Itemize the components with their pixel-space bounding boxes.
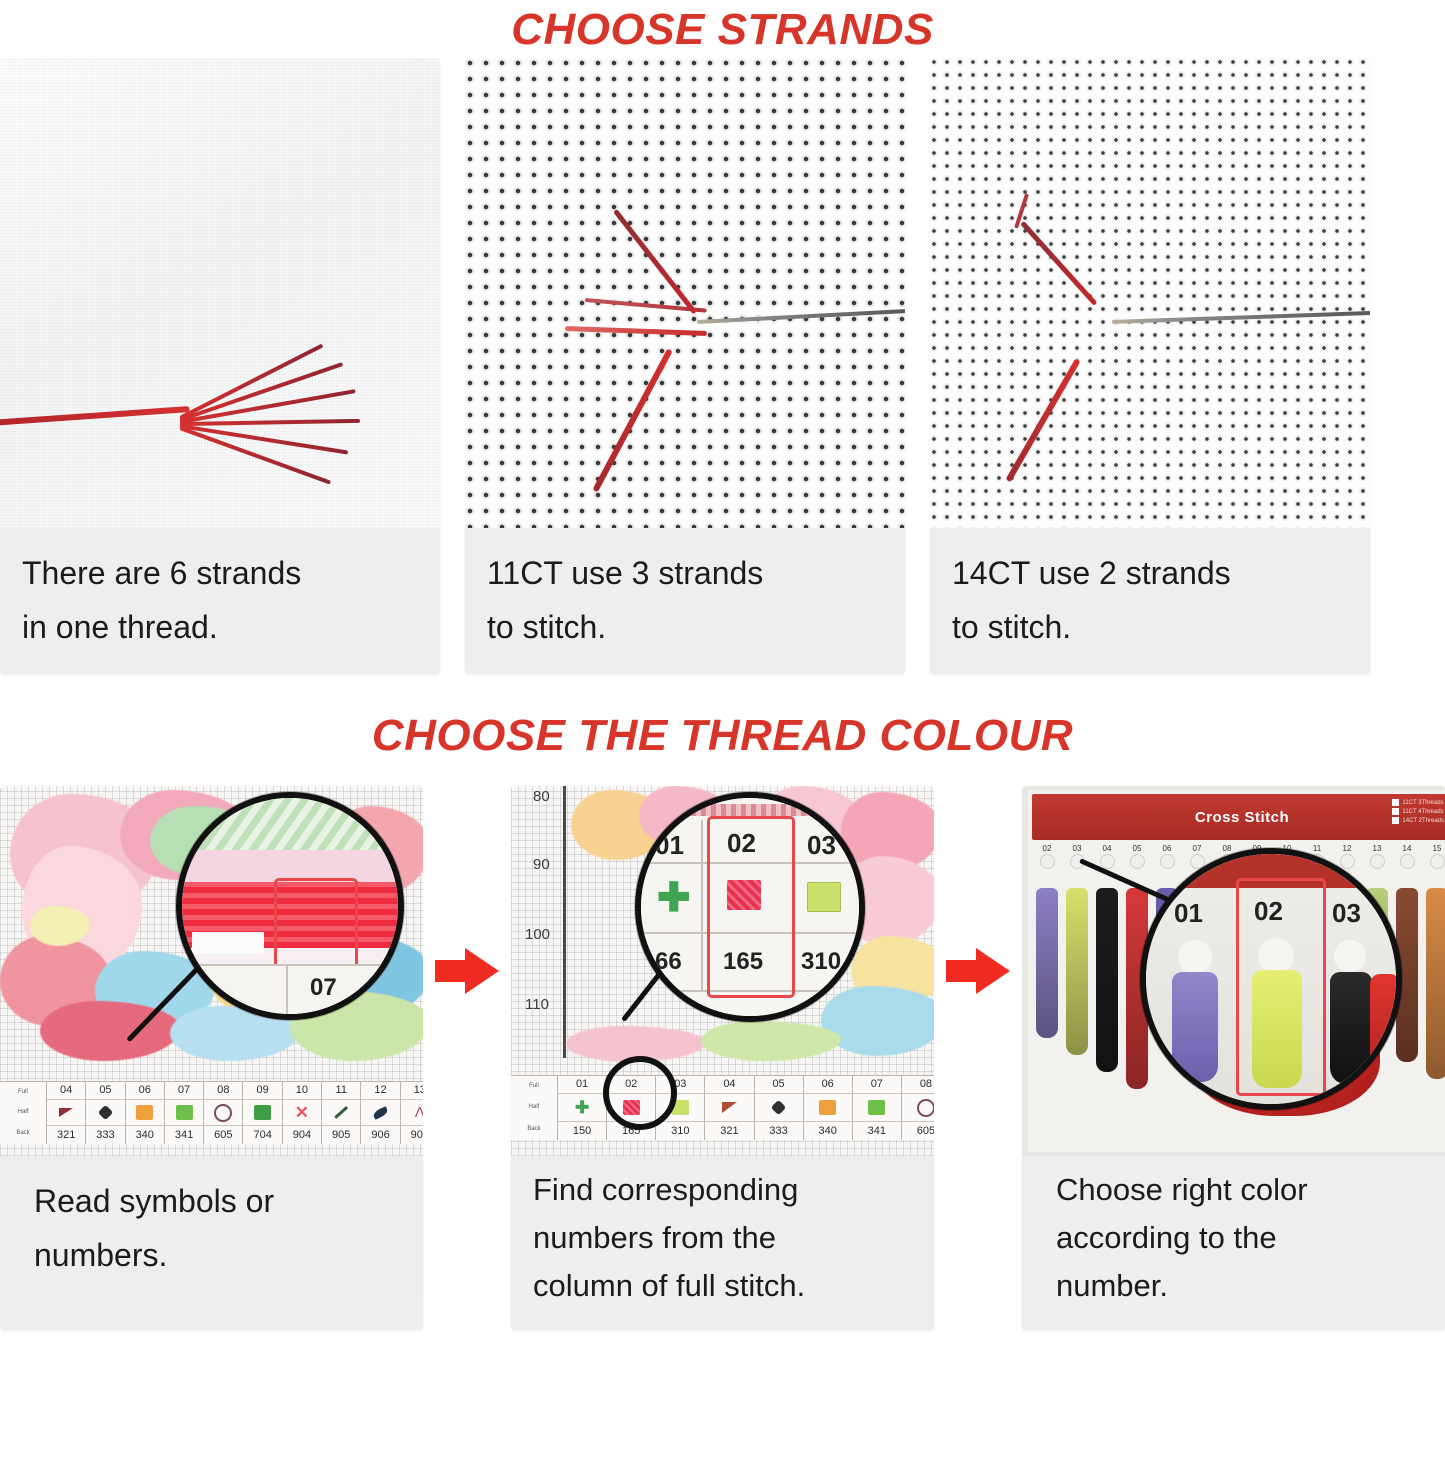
checkbox-icon[interactable]: [1392, 799, 1399, 806]
floss-bundle: [1092, 888, 1122, 1152]
legend-header: 06: [126, 1082, 164, 1100]
legend-column: 10 ✕ 904: [283, 1082, 322, 1144]
legend-columns: 04 321 05 333 06 340 07: [47, 1082, 423, 1144]
legend-number: 333: [755, 1122, 803, 1140]
photo-six-strands: [0, 58, 440, 528]
checkbox-label: 14CT 2Threads: [1402, 818, 1444, 824]
legend-number: 906: [361, 1126, 399, 1144]
legend-symbol-leaf-icon: [361, 1100, 399, 1126]
legend-header: 04: [705, 1076, 753, 1094]
card-read-symbols: 07 Full Half Back 04 321 05: [0, 786, 423, 1330]
photo-pattern-chart-numbers: 80 90 100 110: [511, 786, 934, 1156]
peg-hole-icon: [1430, 854, 1445, 869]
skein-sample: [1330, 972, 1372, 1084]
legend-number: 150: [558, 1122, 606, 1140]
caption-line: to stitch.: [952, 600, 1348, 654]
photo-pattern-chart-symbols: 07 Full Half Back 04 321 05: [0, 786, 423, 1156]
caption-line: There are 6 strands: [22, 546, 418, 600]
legend-number: 905: [322, 1126, 360, 1144]
thread-peg-number: 15: [1433, 844, 1442, 854]
thread-peg-number: 04: [1103, 844, 1112, 854]
caption-line: column of full stitch.: [533, 1262, 912, 1310]
skein-sample: [1172, 972, 1218, 1082]
arrow-step-2-to-3: [934, 786, 1022, 1156]
caption-line: Choose right color: [1056, 1166, 1423, 1214]
legend-header: 06: [804, 1076, 852, 1094]
caption-line: in one thread.: [22, 600, 418, 654]
caption-line: Read symbols or: [34, 1174, 401, 1228]
legend-column: 04 321: [705, 1076, 754, 1140]
card-choose-color: Cross Stitch 11CT 3Threads 11CT 4Threads…: [1022, 786, 1445, 1330]
number-legend-table: Full Half Back 01 ✚ 150 02 165: [511, 1075, 934, 1140]
legend-column: 06 340: [126, 1082, 165, 1144]
legend-header: 01: [558, 1076, 606, 1094]
legend-side-label: Half: [18, 1109, 29, 1116]
legend-column: 12 906: [361, 1082, 400, 1144]
legend-header: 11: [322, 1082, 360, 1100]
thread-peg-number: 12: [1343, 844, 1352, 854]
legend-symbol-green-cross-icon: ✚: [558, 1094, 606, 1122]
checkbox-label: 11CT 4Threads: [1402, 809, 1443, 815]
caption-11ct: 11CT use 3 strands to stitch.: [465, 528, 905, 674]
axis-tick-label: 110: [525, 996, 549, 1013]
legend-header: 07: [165, 1082, 203, 1100]
legend-side-label: Half: [529, 1104, 540, 1111]
legend-number: 341: [165, 1126, 203, 1144]
symbol-yellow-box-icon: [807, 882, 841, 912]
skein-sample: [1370, 974, 1400, 1074]
peg-hole-icon: [1334, 940, 1366, 972]
caption-line: 11CT use 3 strands: [487, 546, 883, 600]
axis-tick-label: 90: [533, 856, 550, 873]
aida-cloth-14ct-texture: [930, 58, 1370, 528]
axis-tick-label: 80: [533, 788, 550, 805]
magnifier-thread-number: 66: [655, 948, 682, 976]
legend-header: 12: [361, 1082, 399, 1100]
photo-11ct-aida: [465, 58, 905, 528]
magnifier-symbols: 07: [176, 792, 404, 1020]
legend-header: 04: [47, 1082, 85, 1100]
axis-tick-label: 100: [525, 926, 550, 943]
legend-header: 05: [755, 1076, 803, 1094]
checkbox-icon[interactable]: [1392, 817, 1399, 824]
magnifier-thread-number: 310: [801, 948, 841, 976]
legend-header: 08: [902, 1076, 934, 1094]
floss-bundle: [1062, 888, 1092, 1152]
thread-colour-card-row: 07 Full Half Back 04 321 05: [0, 786, 1445, 1330]
legend-number: 340: [804, 1122, 852, 1140]
peg-hole-icon: [1400, 854, 1415, 869]
card-11ct-three-strands: 11CT use 3 strands to stitch.: [465, 58, 905, 674]
legend-header: 13: [401, 1082, 423, 1100]
legend-side-labels: Full Half Back: [511, 1076, 558, 1140]
thread-peg-number: 03: [1073, 844, 1082, 854]
thread-peg-number: 07: [1193, 844, 1202, 854]
magnifier-numbers: 01 02 03 ✚ 66 165 310: [635, 792, 865, 1022]
peg-hole-icon: [1178, 940, 1212, 974]
thread-peg-number: 02: [1043, 844, 1052, 854]
legend-symbol-triangle-icon: [705, 1094, 753, 1122]
caption-line: Find corresponding: [533, 1166, 912, 1214]
legend-column: 07 341: [853, 1076, 902, 1140]
legend-side-label: Full: [18, 1089, 28, 1096]
legend-header: 09: [243, 1082, 281, 1100]
highlight-box: [707, 816, 795, 998]
legend-symbol-orange-box-icon: [126, 1100, 164, 1126]
caption-14ct: 14CT use 2 strands to stitch.: [930, 528, 1370, 674]
legend-number: 904: [283, 1126, 321, 1144]
strands-card-row: There are 6 strands in one thread. 11CT …: [0, 58, 1445, 674]
photo-thread-organizer-card: Cross Stitch 11CT 3Threads 11CT 4Threads…: [1022, 786, 1445, 1156]
checkbox-row[interactable]: 11CT 4Threads: [1392, 808, 1444, 815]
thread-card-title: Cross Stitch: [1195, 809, 1289, 826]
legend-column: 04 321: [47, 1082, 86, 1144]
legend-number: 605: [902, 1122, 934, 1140]
legend-header: 05: [86, 1082, 124, 1100]
thread-peg: 14: [1392, 844, 1422, 869]
floss-bundle: [1422, 888, 1445, 1152]
legend-column: 05 333: [755, 1076, 804, 1140]
legend-number: 340: [126, 1126, 164, 1144]
legend-side-label: Back: [16, 1130, 29, 1137]
legend-header: 10: [283, 1082, 321, 1100]
arrow-step-1-to-2: [423, 786, 511, 1156]
symbol-green-cross-icon: ✚: [657, 878, 691, 918]
peg-hole-icon: [1040, 854, 1055, 869]
thread-peg-number: 06: [1163, 844, 1172, 854]
card-14ct-two-strands: 14CT use 2 strands to stitch.: [930, 58, 1370, 674]
card-find-numbers: 80 90 100 110: [511, 786, 934, 1330]
magnifier-column-header: 01: [655, 830, 684, 861]
thread-peg-number: 13: [1373, 844, 1382, 854]
legend-column: 01 ✚ 150: [558, 1076, 607, 1140]
right-arrow-icon: [946, 948, 1010, 994]
legend-symbol-green-box-icon: [853, 1094, 901, 1122]
legend-number: 605: [204, 1126, 242, 1144]
checkbox-row[interactable]: 14CT 2Threads: [1392, 817, 1444, 824]
legend-header: 08: [204, 1082, 242, 1100]
legend-symbol-dark-green-box-icon: [243, 1100, 281, 1126]
thread-peg-number: 08: [1223, 844, 1232, 854]
thread-card-header: Cross Stitch 11CT 3Threads 11CT 4Threads…: [1032, 794, 1445, 840]
thread-peg: 15: [1422, 844, 1445, 869]
thread-peg-number: 14: [1403, 844, 1412, 854]
highlight-box: [1236, 878, 1326, 1096]
legend-symbol-orange-box-icon: [804, 1094, 852, 1122]
checkbox-row[interactable]: 11CT 3Threads: [1392, 799, 1444, 806]
legend-symbol-green-box-icon: [165, 1100, 203, 1126]
legend-side-label: Back: [527, 1126, 540, 1133]
caption-choose-color: Choose right color according to the numb…: [1022, 1156, 1445, 1330]
thread-card-checkboxes: 11CT 3Threads 11CT 4Threads 14CT 2Thread…: [1392, 799, 1444, 824]
caption-find-numbers: Find corresponding numbers from the colu…: [511, 1156, 934, 1330]
legend-symbol-bird-icon: [47, 1100, 85, 1126]
checkbox-label: 11CT 3Threads: [1402, 800, 1443, 806]
card-six-strands: There are 6 strands in one thread.: [0, 58, 440, 674]
floss-bundle: [1392, 888, 1422, 1152]
caption-six-strands: There are 6 strands in one thread.: [0, 528, 440, 674]
plain-fabric-texture: [0, 58, 440, 528]
legend-circle-highlight: [603, 1056, 677, 1130]
caption-line: 14CT use 2 strands: [952, 546, 1348, 600]
caption-line: to stitch.: [487, 600, 883, 654]
legend-symbol-slash-icon: [322, 1100, 360, 1126]
thread-peg: 02: [1032, 844, 1062, 869]
section-title-choose-thread-colour: CHOOSE THE THREAD COLOUR: [0, 704, 1445, 764]
floss-bundle: [1032, 888, 1062, 1152]
legend-symbol-x-cross-icon: ✕: [283, 1100, 321, 1126]
right-arrow-icon: [435, 948, 499, 994]
legend-column: 09 704: [243, 1082, 282, 1144]
legend-column: 07 341: [165, 1082, 204, 1144]
photo-14ct-aida: [930, 58, 1370, 528]
thread-peg-number: 11: [1313, 844, 1321, 854]
legend-number: 310: [656, 1122, 704, 1140]
magnifier-column-header: 01: [1174, 898, 1203, 929]
magnifier-thread-numbers: 01 02 03: [1140, 848, 1402, 1110]
peg-hole-icon: [1130, 854, 1145, 869]
legend-symbol-lambda-icon: Λ: [401, 1100, 423, 1126]
legend-column: 08 605: [902, 1076, 934, 1140]
legend-column: 06 340: [804, 1076, 853, 1140]
magnifier-column-header: 03: [1332, 898, 1361, 929]
caption-line: numbers from the: [533, 1214, 912, 1262]
legend-number: 704: [243, 1126, 281, 1144]
section-title-choose-strands: CHOOSE STRANDS: [0, 0, 1445, 58]
legend-symbol-ring-icon: [902, 1094, 934, 1122]
legend-number: 321: [705, 1122, 753, 1140]
magnifier-column-header: 03: [807, 830, 836, 861]
legend-number: 907: [401, 1126, 423, 1144]
symbol-legend-table: Full Half Back 04 321 05 333: [0, 1081, 423, 1144]
legend-column: 08 605: [204, 1082, 243, 1144]
legend-number: 321: [47, 1126, 85, 1144]
legend-symbol-ring-icon: [204, 1100, 242, 1126]
magnifier-visible-number: 07: [310, 974, 337, 1002]
legend-column: 05 333: [86, 1082, 125, 1144]
legend-side-labels: Full Half Back: [0, 1082, 47, 1144]
caption-read-symbols: Read symbols or numbers.: [0, 1156, 423, 1302]
legend-column: 13 Λ 907: [401, 1082, 423, 1144]
caption-line: according to the: [1056, 1214, 1423, 1262]
caption-line: number.: [1056, 1262, 1423, 1310]
legend-number: 333: [86, 1126, 124, 1144]
legend-column: 11 905: [322, 1082, 361, 1144]
highlight-box: [274, 878, 358, 968]
legend-symbol-hex-icon: [86, 1100, 124, 1126]
legend-number: 341: [853, 1122, 901, 1140]
checkbox-icon[interactable]: [1392, 808, 1399, 815]
caption-line: numbers.: [34, 1228, 401, 1282]
legend-side-label: Full: [529, 1083, 539, 1090]
legend-symbol-hex-icon: [755, 1094, 803, 1122]
legend-header: 07: [853, 1076, 901, 1094]
aida-cloth-11ct-texture: [465, 58, 905, 528]
thread-peg-number: 05: [1133, 844, 1142, 854]
